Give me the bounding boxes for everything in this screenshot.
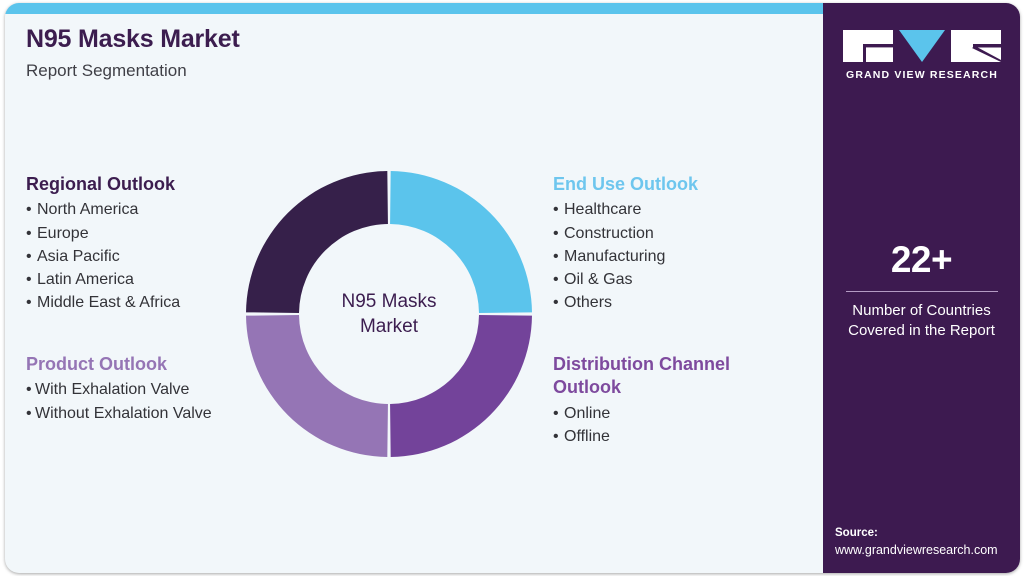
segment-heading-distribution-channel-outlook: Distribution Channel Outlook xyxy=(553,353,763,400)
grand-view-research-logo: GRAND VIEW RESEARCH xyxy=(841,30,1003,81)
list-item: •Manufacturing xyxy=(553,245,698,268)
source-label: Source: xyxy=(835,525,1017,542)
list-item-label: North America xyxy=(37,201,138,218)
segment-heading-regional-outlook: Regional Outlook xyxy=(26,173,180,196)
list-item: •Online xyxy=(553,402,763,425)
list-item: •Others xyxy=(553,291,698,314)
logo-wordmark: GRAND VIEW RESEARCH xyxy=(841,69,1003,81)
list-item: •Offline xyxy=(553,425,763,448)
segment-block-end-use-outlook: End Use Outlook •Healthcare •Constructio… xyxy=(553,173,698,314)
list-item-label: Latin America xyxy=(37,271,134,288)
segment-block-regional-outlook: Regional Outlook •North America •Europe … xyxy=(26,173,180,314)
list-item: •Healthcare xyxy=(553,198,698,221)
header: N95 Masks Market Report Segmentation xyxy=(26,25,726,80)
list-item-label: Middle East & Africa xyxy=(37,294,180,311)
list-item: •With Exhalation Valve xyxy=(26,378,212,401)
list-item-label: Manufacturing xyxy=(564,248,665,265)
list-item: •Without Exhalation Valve xyxy=(26,402,212,425)
donut-chart-svg xyxy=(246,171,532,457)
source-block: Source: www.grandviewresearch.com xyxy=(835,525,1017,559)
list-item: •Latin America xyxy=(26,268,180,291)
segment-list-regional-outlook: •North America •Europe •Asia Pacific •La… xyxy=(26,198,180,314)
list-item: •Oil & Gas xyxy=(553,268,698,291)
list-item-label: Others xyxy=(564,294,612,311)
segment-heading-product-outlook: Product Outlook xyxy=(26,353,212,376)
segment-block-product-outlook: Product Outlook •With Exhalation Valve •… xyxy=(26,353,212,425)
bullet-icon: • xyxy=(26,291,37,314)
logo-letter-r-icon xyxy=(951,30,1001,62)
list-item-label: Healthcare xyxy=(564,201,641,218)
bullet-icon: • xyxy=(26,245,37,268)
bullet-icon: • xyxy=(553,222,564,245)
top-accent-bar xyxy=(5,3,823,14)
stat-divider xyxy=(846,291,998,292)
bullet-icon: • xyxy=(26,268,37,291)
bullet-icon: • xyxy=(26,378,35,401)
brand-panel: GRAND VIEW RESEARCH 22+ Number of Countr… xyxy=(823,3,1020,573)
stat-label: Number of Countries Covered in the Repor… xyxy=(833,301,1010,342)
bullet-icon: • xyxy=(26,198,37,221)
list-item-label: Europe xyxy=(37,225,89,242)
page-subtitle: Report Segmentation xyxy=(26,61,726,81)
report-card: N95 Masks Market Report Segmentation Reg… xyxy=(5,3,1020,573)
stat-countries-covered: 22+ Number of Countries Covered in the R… xyxy=(833,241,1010,342)
list-item: •North America xyxy=(26,198,180,221)
segment-list-distribution-channel-outlook: •Online •Offline xyxy=(553,402,763,448)
donut-slice xyxy=(246,315,388,457)
donut-slice xyxy=(390,171,532,313)
list-item-label: Online xyxy=(564,405,610,422)
bullet-icon: • xyxy=(26,222,37,245)
donut-chart: N95 Masks Market xyxy=(246,171,532,457)
list-item-label: Without Exhalation Valve xyxy=(35,405,212,422)
segment-heading-end-use-outlook: End Use Outlook xyxy=(553,173,698,196)
infographic-canvas: N95 Masks Market Report Segmentation Reg… xyxy=(0,0,1025,576)
bullet-icon: • xyxy=(553,268,564,291)
logo-letter-v-icon xyxy=(899,30,945,62)
source-url[interactable]: www.grandviewresearch.com xyxy=(835,542,1017,559)
donut-slice xyxy=(246,171,388,313)
list-item: •Asia Pacific xyxy=(26,245,180,268)
page-title: N95 Masks Market xyxy=(26,25,726,54)
bullet-icon: • xyxy=(553,425,564,448)
bullet-icon: • xyxy=(553,245,564,268)
bullet-icon: • xyxy=(26,402,35,425)
stat-label-line-1: Number of Countries xyxy=(833,301,1010,321)
donut-slice xyxy=(390,315,532,457)
list-item-label: Oil & Gas xyxy=(564,271,632,288)
stat-label-line-2: Covered in the Report xyxy=(833,321,1010,341)
list-item: •Middle East & Africa xyxy=(26,291,180,314)
stat-value: 22+ xyxy=(833,241,1010,278)
list-item-label: Asia Pacific xyxy=(37,248,120,265)
list-item-label: Offline xyxy=(564,428,610,445)
bullet-icon: • xyxy=(553,198,564,221)
logo-marks xyxy=(841,30,1003,62)
segment-list-product-outlook: •With Exhalation Valve •Without Exhalati… xyxy=(26,378,212,424)
list-item: •Construction xyxy=(553,222,698,245)
segment-list-end-use-outlook: •Healthcare •Construction •Manufacturing… xyxy=(553,198,698,314)
bullet-icon: • xyxy=(553,402,564,425)
logo-letter-g-icon xyxy=(843,30,893,62)
list-item-label: Construction xyxy=(564,225,654,242)
bullet-icon: • xyxy=(553,291,564,314)
segment-block-distribution-channel-outlook: Distribution Channel Outlook •Online •Of… xyxy=(553,353,763,448)
list-item-label: With Exhalation Valve xyxy=(35,381,189,398)
list-item: •Europe xyxy=(26,222,180,245)
